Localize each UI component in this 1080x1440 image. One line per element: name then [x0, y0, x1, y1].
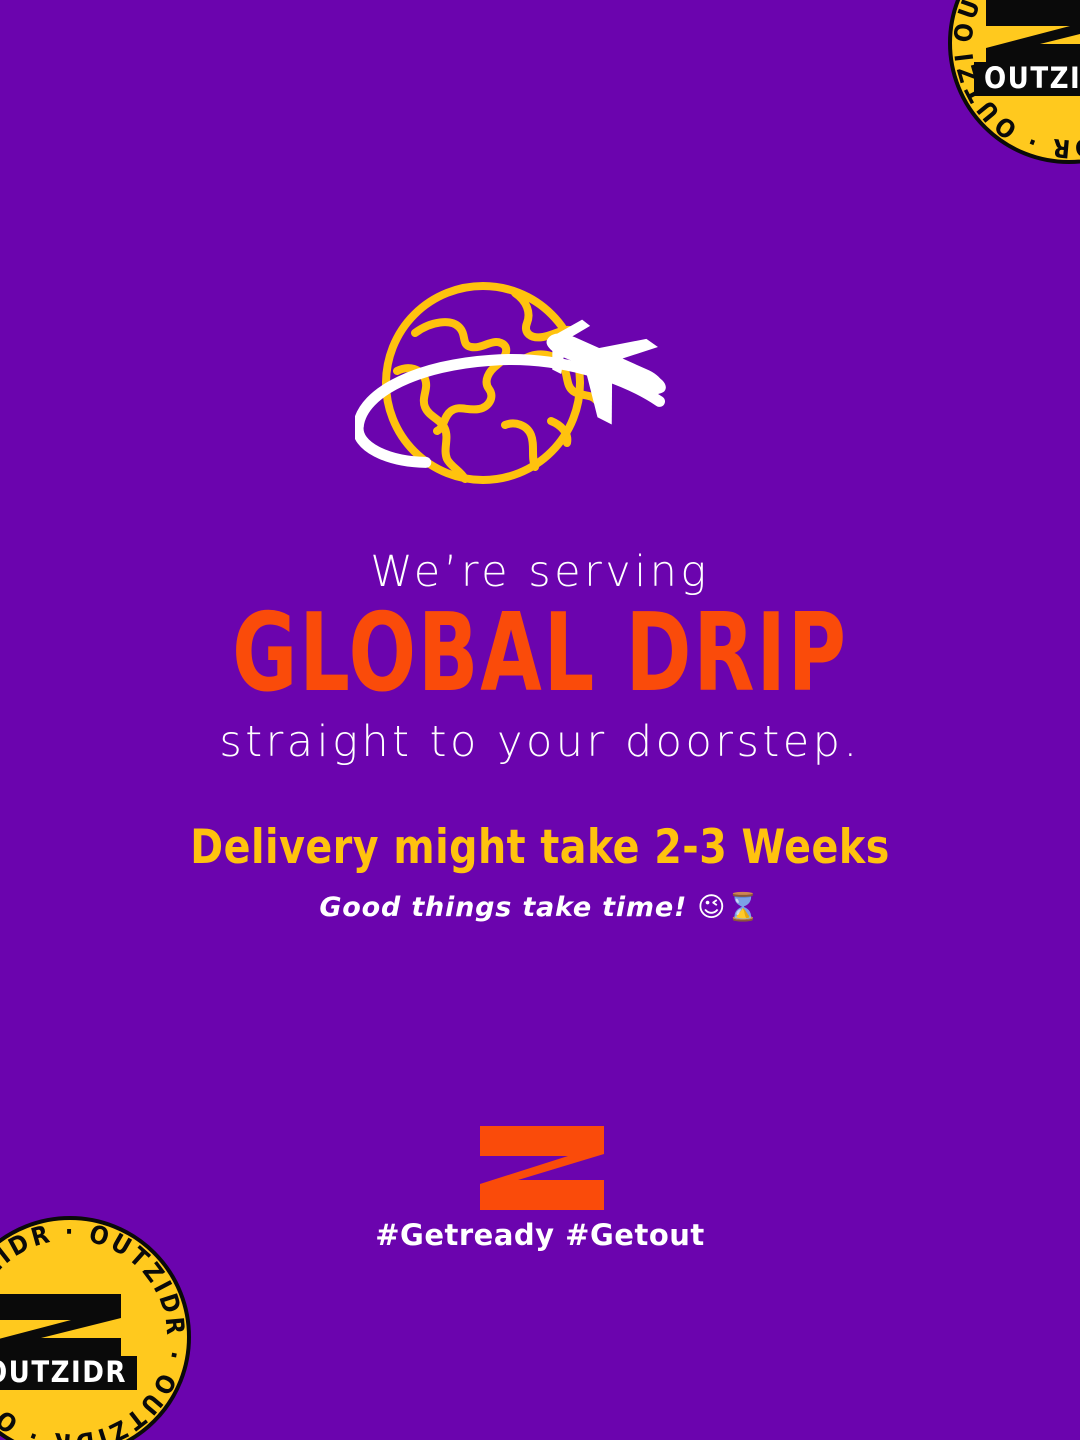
sticker-wordmark-bottom-left: OUTZIDR [0, 1355, 127, 1389]
globe-with-airplane-illustration [355, 275, 715, 510]
outzidr-sticker-top-right: OUTZIDR · OUTZIDR · OUTZIDR · OUTZIDR · … [944, 0, 1080, 168]
page-title: GLOBAL DRIP [43, 600, 1037, 708]
delivery-time-notice: Delivery might take 2-3 Weeks [0, 820, 1080, 875]
wink-hourglass-emoji: 😉⌛ [697, 892, 760, 923]
headline-copy-block: We’re serving GLOBAL DRIP straight to yo… [0, 548, 1080, 767]
promo-poster: We’re serving GLOBAL DRIP straight to yo… [0, 0, 1080, 1440]
delivery-subnote-text: Good things take time! [319, 892, 687, 923]
sticker-wordmark-top-right: OUTZIDR [984, 61, 1080, 95]
headline-line-doorstep: straight to your doorstep. [0, 717, 1080, 767]
delivery-notice-block: Delivery might take 2-3 Weeks Good thing… [0, 822, 1080, 923]
outzidr-z-logo [478, 1124, 606, 1212]
outzidr-sticker-bottom-left: OUTZIDR · OUTZIDR · OUTZIDR · OUTZIDR · … [0, 1212, 195, 1440]
delivery-subnote: Good things take time! 😉⌛ [0, 891, 1080, 923]
